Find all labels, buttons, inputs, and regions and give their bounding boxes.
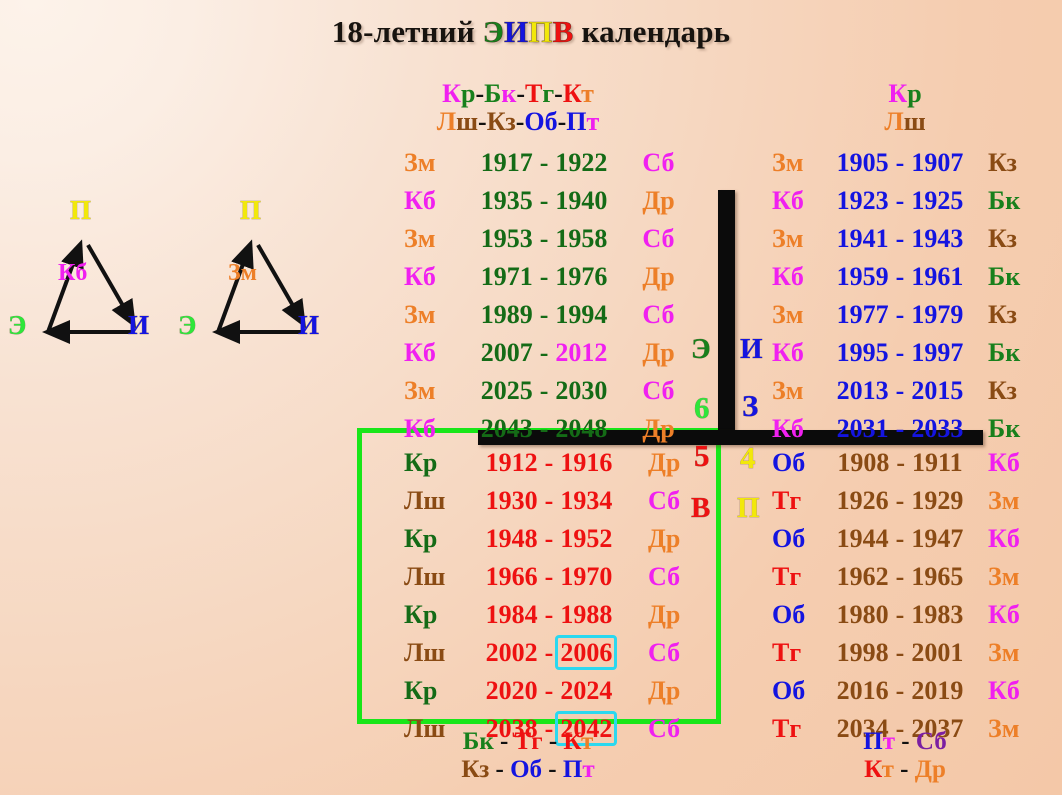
footer-right-line1: Пт - Сб (800, 728, 1010, 756)
triangle1-vertex-left: Э (8, 310, 26, 341)
row-year-dash: - (533, 300, 556, 329)
row-year-dash: - (533, 262, 556, 291)
row-year-end: 1911 (912, 448, 963, 477)
table-row: Лш2002-2006Сб (404, 634, 704, 672)
text-run-2: - (894, 756, 915, 783)
row-end-tag: Др (638, 258, 694, 296)
row-year-range: 1944-1947 (816, 520, 984, 558)
row-year-dash: - (889, 486, 912, 515)
row-end-tag: Сб (638, 144, 694, 182)
quadrant-label-p: П (737, 492, 760, 525)
row-year-dash: - (889, 414, 912, 443)
text-run-1: ш (456, 107, 478, 136)
row-year-dash: - (538, 524, 561, 553)
row-end-tag: Бк (984, 334, 1038, 372)
row-year-range: 1905-1907 (816, 144, 984, 182)
text-run-0: К (864, 756, 882, 783)
row-year-dash: - (889, 186, 912, 215)
text-run-3: К (487, 107, 506, 136)
row-year-range: 1930-1934 (456, 482, 642, 520)
row-year-end: 1916 (560, 448, 612, 477)
text-run-9: П (566, 107, 586, 136)
text-run-4: г (531, 728, 542, 755)
row-start-tag: Зм (772, 144, 816, 182)
row-year-dash: - (889, 376, 912, 405)
row-year-dash: - (889, 262, 912, 291)
row-end-tag: Др (638, 334, 694, 372)
text-run-2: - (475, 79, 484, 108)
table-row: Кр1948-1952Др (404, 520, 704, 558)
row-year-start: 1962 (837, 562, 889, 591)
row-year-start: 1908 (837, 448, 889, 477)
text-run-4: б (530, 756, 543, 783)
title-prefix: 18-летний (332, 14, 483, 49)
row-year-end: 1979 (911, 300, 963, 329)
row-year-end: 1958 (555, 224, 607, 253)
title-suffix: календарь (574, 14, 731, 49)
row-year-range: 1998-2001 (816, 634, 984, 672)
title-letter-3: В (553, 14, 574, 49)
header-right-line2: Лш (800, 108, 1010, 136)
row-start-tag: Лш (404, 558, 456, 596)
table-row: Кр1984-1988Др (404, 596, 704, 634)
table-row: Кр1912-1916Др (404, 444, 704, 482)
row-year-start: 1995 (837, 338, 889, 367)
row-year-dash: - (533, 148, 556, 177)
text-run-2: - (489, 756, 510, 783)
row-year-end: 1943 (911, 224, 963, 253)
quadrant-label-4: 4 (740, 440, 756, 476)
text-run-4: к (501, 79, 516, 108)
row-end-tag: Др (642, 672, 700, 710)
row-end-tag: Кб (984, 444, 1038, 482)
table-row: Кб2007-2012Др (404, 334, 694, 372)
row-year-start: 1917 (481, 148, 533, 177)
row-year-dash: - (889, 300, 912, 329)
quadrant-label-6: 6 (694, 390, 710, 426)
table-row: Об1980-1983Кб (772, 596, 1038, 634)
text-run-6: Т (525, 79, 542, 108)
text-run-9: К (563, 79, 581, 108)
row-year-end: 1934 (560, 486, 612, 515)
row-end-tag: Зм (984, 634, 1038, 672)
row-year-start: 2016 (837, 676, 889, 705)
title-letter-1: И (504, 14, 528, 49)
row-year-range: 1959-1961 (816, 258, 984, 296)
row-year-range: 1953-1958 (450, 220, 639, 258)
row-end-tag: Др (642, 520, 700, 558)
row-year-range: 2013-2015 (816, 372, 984, 410)
title-letter-2: П (528, 14, 552, 49)
calendar-canvas: 18-летний ЭИПВ календарь П Э И Кб (0, 0, 1062, 795)
row-year-end: 1970 (560, 562, 612, 591)
row-year-start: 1966 (486, 562, 538, 591)
row-start-tag: Кб (404, 258, 450, 296)
row-year-range: 1962-1965 (816, 558, 984, 596)
row-start-tag: Кб (404, 334, 450, 372)
row-end-tag: Бк (984, 258, 1038, 296)
row-year-start: 1923 (837, 186, 889, 215)
row-year-end: 1907 (911, 148, 963, 177)
table-row: Кб1935-1940Др (404, 182, 694, 220)
row-year-range: 1941-1943 (816, 220, 984, 258)
triangle2-vertex-right: И (298, 310, 319, 341)
row-year-dash: - (889, 562, 912, 591)
row-year-dash: - (533, 338, 556, 367)
row-year-start: 1998 (837, 638, 889, 667)
row-year-end: 1922 (555, 148, 607, 177)
text-run-3: О (510, 756, 529, 783)
text-run-1: ш (904, 107, 926, 136)
row-year-range: 1980-1983 (816, 596, 984, 634)
row-year-dash: - (889, 638, 912, 667)
text-run-0: Б (463, 728, 480, 755)
row-year-end: 1929 (911, 486, 963, 515)
triangle-diagram-zm: П Э И Зм (170, 190, 350, 350)
row-start-tag: Об (772, 596, 816, 634)
row-year-dash: - (533, 186, 556, 215)
header-left-line1: Кр-Бк-Тг-Кт (368, 80, 668, 108)
header-right: Кр Лш (800, 80, 1010, 135)
text-run-1: р (461, 79, 475, 108)
table-row: Об1908-1911Кб (772, 444, 1038, 482)
row-year-end: 2015 (911, 376, 963, 405)
row-year-end: 1983 (911, 600, 963, 629)
title-letter-0: Э (483, 14, 504, 49)
text-run-3: Т (515, 728, 532, 755)
triangle1-center-label: Кб (58, 260, 87, 287)
table-row: Об1944-1947Кб (772, 520, 1038, 558)
row-year-range: 2007-2012 (450, 334, 639, 372)
row-year-dash: - (889, 224, 912, 253)
triangle2-vertex-left: Э (178, 310, 196, 341)
table-row: Тг1926-1929Зм (772, 482, 1038, 520)
table-row: Зм1905-1907Кз (772, 144, 1038, 182)
table-row: Кб1971-1976Др (404, 258, 694, 296)
table-row: Тг1962-1965Зм (772, 558, 1038, 596)
table-row: Кр2020-2024Др (404, 672, 704, 710)
table-row: Кб2043-2048Др (404, 410, 694, 448)
row-year-start: 1977 (837, 300, 889, 329)
triangle2-center-label: Зм (228, 260, 257, 287)
row-year-start: 2025 (481, 376, 533, 405)
row-year-dash: - (889, 338, 912, 367)
row-start-tag: Зм (772, 372, 816, 410)
row-end-tag: Сб (638, 372, 694, 410)
row-year-end: 2001 (911, 638, 963, 667)
text-run-0: К (442, 79, 461, 108)
row-end-tag: Кб (984, 596, 1038, 634)
quadrant-label-5: 5 (694, 438, 710, 474)
row-end-tag: Кб (984, 672, 1038, 710)
row-year-range: 2043-2048 (450, 410, 639, 448)
row-year-start: 1926 (837, 486, 889, 515)
text-run-5: - (542, 756, 563, 783)
row-year-start: 2031 (837, 414, 889, 443)
row-year-dash: - (538, 486, 561, 515)
text-run-0: П (863, 728, 882, 755)
footer-right-line2: Кт - Др (800, 756, 1010, 784)
row-end-tag: Др (642, 444, 700, 482)
row-year-start: 1948 (486, 524, 538, 553)
row-end-tag: Кз (984, 296, 1038, 334)
row-year-dash: - (538, 448, 561, 477)
row-year-end: 2030 (555, 376, 607, 405)
text-run-4: р (932, 756, 946, 783)
row-end-tag: Сб (642, 634, 700, 672)
row-year-range: 2016-2019 (816, 672, 984, 710)
text-run-8: - (558, 107, 567, 136)
row-end-tag: Сб (638, 220, 694, 258)
quadrant-label-z: З (742, 388, 758, 424)
table-row: Зм1977-1979Кз (772, 296, 1038, 334)
row-year-range: 1995-1997 (816, 334, 984, 372)
row-start-tag: Кр (404, 520, 456, 558)
row-year-end: 1976 (555, 262, 607, 291)
row-start-tag: Кб (772, 258, 816, 296)
row-start-tag: Кр (404, 444, 456, 482)
page-title: 18-летний ЭИПВ календарь (0, 14, 1062, 50)
text-run-7: г (542, 79, 554, 108)
row-end-tag: Кз (984, 220, 1038, 258)
row-year-range: 1948-1952 (456, 520, 642, 558)
row-year-dash: - (533, 224, 556, 253)
row-start-tag: Зм (772, 296, 816, 334)
row-end-tag: Зм (984, 558, 1038, 596)
table-bottom-right: Об1908-1911КбТг1926-1929ЗмОб1944-1947КбТ… (772, 444, 1038, 748)
row-year-start: 1980 (837, 600, 889, 629)
row-year-range: 1923-1925 (816, 182, 984, 220)
row-year-end: 2024 (560, 676, 612, 705)
row-year-start: 1971 (481, 262, 533, 291)
table-row: Кб1923-1925Бк (772, 182, 1038, 220)
row-year-end: 2019 (911, 676, 963, 705)
row-end-tag: Бк (984, 182, 1038, 220)
row-start-tag: Зм (404, 296, 450, 334)
row-year-end-highlighted: 2006 (558, 638, 614, 667)
text-run-5: - (516, 79, 525, 108)
text-run-2: - (895, 728, 916, 755)
row-year-dash: - (889, 676, 912, 705)
table-top-right: Зм1905-1907КзКб1923-1925БкЗм1941-1943КзК… (772, 144, 1038, 448)
text-run-3: Д (915, 756, 932, 783)
row-year-range: 1912-1916 (456, 444, 642, 482)
row-year-end: 2012 (555, 338, 607, 367)
row-year-start: 1941 (837, 224, 889, 253)
header-left-line2: Лш-Кз-Об-Пт (368, 108, 668, 136)
row-start-tag: Тг (772, 482, 816, 520)
row-year-range: 2002-2006 (456, 634, 642, 672)
text-run-4: з (505, 107, 515, 136)
text-run-7: т (582, 756, 594, 783)
row-start-tag: Кб (772, 182, 816, 220)
quadrant-label-i: И (740, 333, 763, 366)
quadrant-label-v: В (691, 492, 710, 525)
text-run-0: К (461, 756, 479, 783)
table-row: Зм1953-1958Сб (404, 220, 694, 258)
row-year-range: 1977-1979 (816, 296, 984, 334)
row-end-tag: Кз (984, 144, 1038, 182)
row-year-range: 1917-1922 (450, 144, 639, 182)
cross-vertical-bar (718, 190, 735, 438)
row-year-start: 2020 (486, 676, 538, 705)
table-row: Зм1941-1943Кз (772, 220, 1038, 258)
row-year-start: 1935 (481, 186, 533, 215)
row-year-dash: - (889, 448, 912, 477)
row-year-dash: - (889, 148, 912, 177)
row-year-dash: - (533, 414, 556, 443)
text-run-1: т (883, 728, 895, 755)
row-start-tag: Лш (404, 634, 456, 672)
table-row: Кб2031-2033Бк (772, 410, 1038, 448)
row-start-tag: Тг (772, 558, 816, 596)
text-run-4: б (934, 728, 947, 755)
row-start-tag: Кб (404, 410, 450, 448)
row-year-end: 1961 (911, 262, 963, 291)
row-start-tag: Об (772, 444, 816, 482)
row-year-start: 1959 (837, 262, 889, 291)
text-run-0: Л (437, 107, 456, 136)
table-bottom-left: Кр1912-1916ДрЛш1930-1934СбКр1948-1952ДрЛ… (404, 444, 704, 748)
text-run-6: К (563, 728, 581, 755)
row-year-end: 2048 (555, 414, 607, 443)
triangle-diagram-kb: П Э И Кб (0, 190, 180, 350)
row-year-dash: - (533, 376, 556, 405)
table-row: Тг1998-2001Зм (772, 634, 1038, 672)
table-row: Зм2025-2030Сб (404, 372, 694, 410)
table-row: Зм2013-2015Кз (772, 372, 1038, 410)
text-run-10: т (587, 107, 600, 136)
text-run-2: - (494, 728, 515, 755)
row-year-range: 2031-2033 (816, 410, 984, 448)
text-run-7: б (545, 107, 558, 136)
header-left: Кр-Бк-Тг-Кт Лш-Кз-Об-Пт (368, 80, 668, 135)
quadrant-label-e: Э (691, 333, 711, 366)
row-year-range: 1966-1970 (456, 558, 642, 596)
text-run-0: Л (884, 107, 903, 136)
row-start-tag: Кр (404, 596, 456, 634)
table-row: Об2016-2019Кб (772, 672, 1038, 710)
row-year-end: 1965 (911, 562, 963, 591)
row-year-start: 2013 (837, 376, 889, 405)
text-run-1: к (479, 728, 493, 755)
row-end-tag: Сб (642, 558, 700, 596)
text-run-7: т (581, 728, 593, 755)
table-row: Зм1917-1922Сб (404, 144, 694, 182)
row-year-start: 2043 (481, 414, 533, 443)
text-run-1: р (907, 79, 921, 108)
row-year-start: 2002 (486, 638, 538, 667)
row-year-end: 1947 (911, 524, 963, 553)
row-end-tag: Зм (984, 482, 1038, 520)
table-top-left: Зм1917-1922СбКб1935-1940ДрЗм1953-1958СбК… (404, 144, 694, 448)
row-start-tag: Тг (772, 634, 816, 672)
row-start-tag: Лш (404, 482, 456, 520)
row-end-tag: Др (642, 596, 700, 634)
row-start-tag: Кб (772, 410, 816, 448)
row-year-end: 1988 (560, 600, 612, 629)
table-row: Кб1959-1961Бк (772, 258, 1038, 296)
row-start-tag: Об (772, 672, 816, 710)
footer-left-line1: Бк - Тг - Кт (368, 728, 688, 756)
text-run-10: т (581, 79, 594, 108)
text-run-1: т (882, 756, 894, 783)
header-right-line1: Кр (800, 80, 1010, 108)
row-end-tag: Кб (984, 520, 1038, 558)
row-start-tag: Кб (404, 182, 450, 220)
row-year-range: 1971-1976 (450, 258, 639, 296)
row-year-start: 1989 (481, 300, 533, 329)
row-year-end: 1925 (911, 186, 963, 215)
row-year-dash: - (538, 676, 561, 705)
row-year-start: 1944 (837, 524, 889, 553)
row-year-dash: - (889, 600, 912, 629)
row-year-dash: - (538, 638, 561, 667)
row-year-start: 1930 (486, 486, 538, 515)
text-run-3: Б (484, 79, 501, 108)
row-start-tag: Зм (772, 220, 816, 258)
text-run-1: з (479, 756, 489, 783)
row-end-tag: Бк (984, 410, 1038, 448)
row-end-tag: Др (638, 410, 694, 448)
text-run-2: - (478, 107, 487, 136)
table-row: Лш1966-1970Сб (404, 558, 704, 596)
footer-left-line2: Кз - Об - Пт (368, 756, 688, 784)
row-year-end: 1940 (555, 186, 607, 215)
row-year-dash: - (538, 562, 561, 591)
row-start-tag: Зм (404, 144, 450, 182)
text-run-3: С (916, 728, 934, 755)
row-year-range: 2020-2024 (456, 672, 642, 710)
triangle1-vertex-top: П (70, 195, 91, 226)
text-run-0: К (888, 79, 907, 108)
table-row: Лш1930-1934Сб (404, 482, 704, 520)
row-start-tag: Кр (404, 672, 456, 710)
row-year-dash: - (889, 524, 912, 553)
row-year-start: 1953 (481, 224, 533, 253)
footer-right: Пт - Сб Кт - Др (800, 728, 1010, 783)
row-year-range: 1989-1994 (450, 296, 639, 334)
row-year-start: 2007 (481, 338, 533, 367)
row-end-tag: Сб (638, 296, 694, 334)
row-year-range: 2025-2030 (450, 372, 639, 410)
row-year-start: 1912 (486, 448, 538, 477)
row-year-end: 1994 (555, 300, 607, 329)
row-year-start: 1905 (837, 148, 889, 177)
row-start-tag: Зм (404, 372, 450, 410)
row-year-range: 1935-1940 (450, 182, 639, 220)
row-year-range: 1926-1929 (816, 482, 984, 520)
table-row: Кб1995-1997Бк (772, 334, 1038, 372)
row-year-range: 1984-1988 (456, 596, 642, 634)
row-start-tag: Зм (404, 220, 450, 258)
row-year-end: 1952 (560, 524, 612, 553)
table-row: Зм1989-1994Сб (404, 296, 694, 334)
text-run-6: О (524, 107, 544, 136)
row-start-tag: Кб (772, 334, 816, 372)
triangle2-vertex-top: П (240, 195, 261, 226)
triangle1-vertex-right: И (128, 310, 149, 341)
text-run-8: - (554, 79, 563, 108)
row-year-dash: - (538, 600, 561, 629)
row-year-start: 1984 (486, 600, 538, 629)
row-start-tag: Об (772, 520, 816, 558)
footer-left: Бк - Тг - Кт Кз - Об - Пт (368, 728, 688, 783)
row-year-end: 1997 (911, 338, 963, 367)
row-year-range: 1908-1911 (816, 444, 984, 482)
row-end-tag: Др (638, 182, 694, 220)
row-end-tag: Кз (984, 372, 1038, 410)
